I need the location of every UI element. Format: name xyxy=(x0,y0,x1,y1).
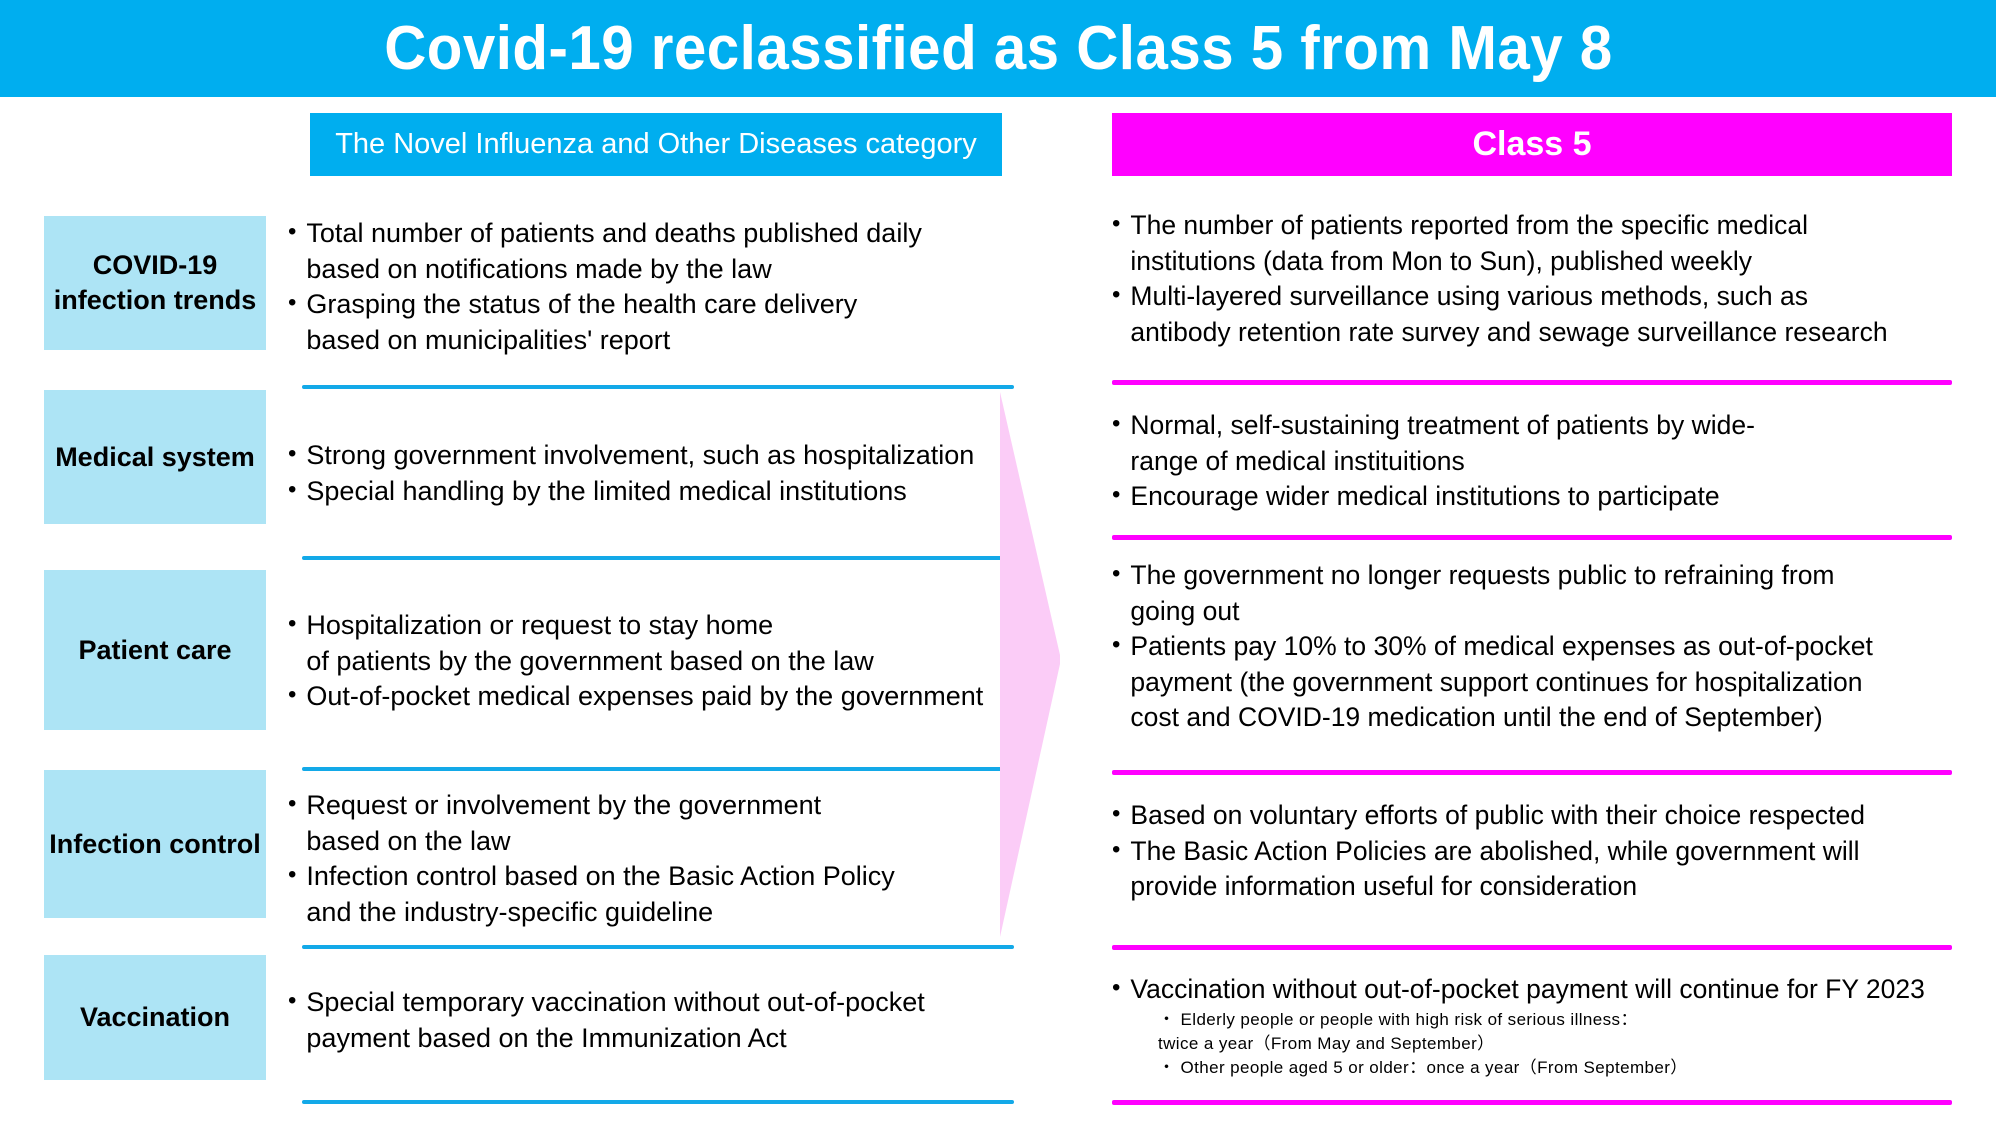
bullet-dot-icon: • xyxy=(1112,834,1130,866)
bullet-dot-icon: • xyxy=(1112,629,1130,661)
bullet-text: The number of patients reported from the… xyxy=(1130,208,1974,279)
bullet-dot-icon: • xyxy=(288,679,306,711)
right-bullets-medical-system: • Normal, self-sustaining treatment of p… xyxy=(1112,408,1974,515)
bullet-item: • Request or involvement by the governme… xyxy=(288,788,1018,859)
category-chip-infection-control: Infection control xyxy=(44,770,266,918)
left-column-header: The Novel Influenza and Other Diseases c… xyxy=(310,113,1002,176)
bullet-item: • The government no longer requests publ… xyxy=(1112,558,1974,629)
left-divider-rule xyxy=(302,556,1014,560)
category-chip-label: COVID-19 infection trends xyxy=(44,248,266,317)
title-banner: Covid-19 reclassified as Class 5 from Ma… xyxy=(0,0,1996,97)
right-bullets-patient-care: • The government no longer requests publ… xyxy=(1112,558,1974,736)
bullet-item: • Encourage wider medical institutions t… xyxy=(1112,479,1974,515)
bullet-text: Multi-layered surveillance using various… xyxy=(1130,279,1974,350)
bullet-item: • Vaccination without out-of-pocket paym… xyxy=(1112,972,1974,1008)
left-bullets-vaccination: • Special temporary vaccination without … xyxy=(288,985,1018,1056)
left-bullets-infection-control: • Request or involvement by the governme… xyxy=(288,788,1018,931)
bullet-text: Strong government involvement, such as h… xyxy=(306,438,1018,474)
category-chip-patient-care: Patient care xyxy=(44,570,266,730)
category-chip-label: Infection control xyxy=(49,827,261,862)
right-divider-rule xyxy=(1112,1100,1952,1105)
bullet-text: Request or involvement by the government… xyxy=(306,788,1018,859)
left-divider-rule xyxy=(302,945,1014,949)
bullet-item: • Multi-layered surveillance using vario… xyxy=(1112,279,1974,350)
bullet-item: • Hospitalization or request to stay hom… xyxy=(288,608,1018,679)
left-column-header-label: The Novel Influenza and Other Diseases c… xyxy=(335,128,977,161)
right-bullets-infection-control: • Based on voluntary efforts of public w… xyxy=(1112,798,1974,905)
vaccination-sub-note: ・ Elderly people or people with high ris… xyxy=(1158,1008,1974,1080)
right-divider-rule xyxy=(1112,535,1952,540)
right-bullets-vaccination: • Vaccination without out-of-pocket paym… xyxy=(1112,972,1974,1080)
category-chip-label: Patient care xyxy=(78,633,231,668)
category-chip-label: Vaccination xyxy=(80,1000,230,1035)
bullet-dot-icon: • xyxy=(1112,479,1130,511)
bullet-item: • Based on voluntary efforts of public w… xyxy=(1112,798,1974,834)
bullet-text: The government no longer requests public… xyxy=(1130,558,1974,629)
bullet-item: • The number of patients reported from t… xyxy=(1112,208,1974,279)
bullet-text: Based on voluntary efforts of public wit… xyxy=(1130,798,1974,834)
bullet-text: Total number of patients and deaths publ… xyxy=(306,216,1018,287)
left-divider-rule xyxy=(302,385,1014,389)
bullet-text: Out-of-pocket medical expenses paid by t… xyxy=(306,679,1018,715)
category-chip-medical-system: Medical system xyxy=(44,390,266,524)
right-divider-rule xyxy=(1112,770,1952,775)
right-column-header-label: Class 5 xyxy=(1472,125,1591,164)
bullet-text: Hospitalization or request to stay home … xyxy=(306,608,1018,679)
bullet-dot-icon: • xyxy=(288,474,306,506)
left-bullets-patient-care: • Hospitalization or request to stay hom… xyxy=(288,608,1018,715)
category-chip-vaccination: Vaccination xyxy=(44,955,266,1080)
left-divider-rule xyxy=(302,767,1014,771)
right-divider-rule xyxy=(1112,945,1952,950)
bullet-text: Grasping the status of the health care d… xyxy=(306,287,1018,358)
bullet-item: • Grasping the status of the health care… xyxy=(288,287,1018,358)
bullet-text: Special temporary vaccination without ou… xyxy=(306,985,1018,1056)
bullet-item: • Total number of patients and deaths pu… xyxy=(288,216,1018,287)
bullet-text: Encourage wider medical institutions to … xyxy=(1130,479,1974,515)
bullet-dot-icon: • xyxy=(1112,972,1130,1004)
bullet-dot-icon: • xyxy=(1112,279,1130,311)
bullet-item: • Normal, self-sustaining treatment of p… xyxy=(1112,408,1974,479)
bullet-text: Normal, self-sustaining treatment of pat… xyxy=(1130,408,1974,479)
left-bullets-medical-system: • Strong government involvement, such as… xyxy=(288,438,1018,509)
left-bullets-covid-19-infection-trends: • Total number of patients and deaths pu… xyxy=(288,216,1018,359)
bullet-dot-icon: • xyxy=(1112,558,1130,590)
bullet-text: Special handling by the limited medical … xyxy=(306,474,1018,510)
page-title: Covid-19 reclassified as Class 5 from Ma… xyxy=(384,13,1612,84)
bullet-dot-icon: • xyxy=(1112,798,1130,830)
bullet-text: Infection control based on the Basic Act… xyxy=(306,859,1018,930)
bullet-text: Vaccination without out-of-pocket paymen… xyxy=(1130,972,1974,1008)
transition-arrow-icon xyxy=(1000,392,1060,937)
right-divider-rule xyxy=(1112,380,1952,385)
bullet-dot-icon: • xyxy=(1112,208,1130,240)
bullet-dot-icon: • xyxy=(1112,408,1130,440)
bullet-item: • Special handling by the limited medica… xyxy=(288,474,1018,510)
bullet-text: Patients pay 10% to 30% of medical expen… xyxy=(1130,629,1974,736)
bullet-dot-icon: • xyxy=(288,985,306,1017)
bullet-dot-icon: • xyxy=(288,438,306,470)
bullet-dot-icon: • xyxy=(288,287,306,319)
bullet-item: • The Basic Action Policies are abolishe… xyxy=(1112,834,1974,905)
bullet-item: • Strong government involvement, such as… xyxy=(288,438,1018,474)
bullet-dot-icon: • xyxy=(288,859,306,891)
category-chip-label: Medical system xyxy=(55,440,255,475)
bullet-item: • Special temporary vaccination without … xyxy=(288,985,1018,1056)
bullet-dot-icon: • xyxy=(288,788,306,820)
right-bullets-covid-19-infection-trends: • The number of patients reported from t… xyxy=(1112,208,1974,350)
category-chip-covid-19-infection-trends: COVID-19 infection trends xyxy=(44,216,266,350)
bullet-text: The Basic Action Policies are abolished,… xyxy=(1130,834,1974,905)
bullet-dot-icon: • xyxy=(288,216,306,248)
bullet-dot-icon: • xyxy=(288,608,306,640)
left-divider-rule xyxy=(302,1100,1014,1104)
bullet-item: • Out-of-pocket medical expenses paid by… xyxy=(288,679,1018,715)
bullet-item: • Infection control based on the Basic A… xyxy=(288,859,1018,930)
right-column-header: Class 5 xyxy=(1112,113,1952,176)
bullet-item: • Patients pay 10% to 30% of medical exp… xyxy=(1112,629,1974,736)
